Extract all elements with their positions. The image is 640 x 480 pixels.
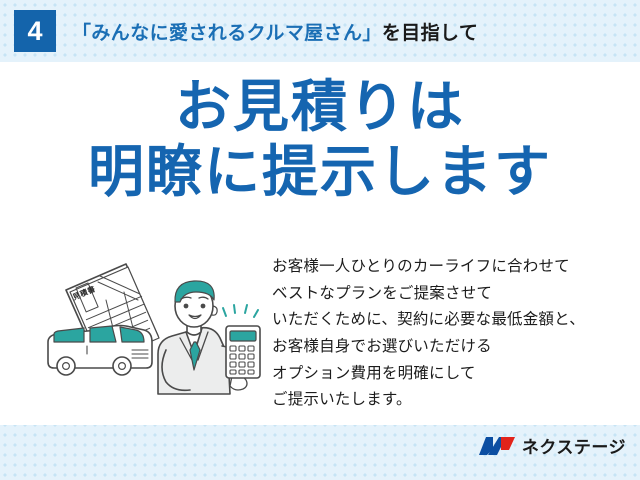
headline-line-2: 明瞭に提示します xyxy=(0,143,640,202)
header-title-quoted: 「みんなに愛されるクルマ屋さん」 xyxy=(72,23,382,44)
nexstage-logo: ネクステージ xyxy=(479,433,626,458)
nexstage-logo-text: ネクステージ xyxy=(522,433,626,458)
nexstage-n-mark xyxy=(479,435,515,457)
body-copy-line: ご提示いたします。 xyxy=(272,387,632,414)
content-panel: お見積りは 明瞭に提示します お客様一人ひとりのカーライフに合わせて ベストなプ… xyxy=(0,62,640,425)
body-copy-line: ベストなプランをご提案させて xyxy=(272,281,632,308)
body-copy-line: オプション費用を明確にして xyxy=(272,361,632,388)
body-copy: お客様一人ひとりのカーライフに合わせて ベストなプランをご提案させて いただくた… xyxy=(272,254,632,414)
section-number-badge: 4 xyxy=(14,10,56,52)
body-copy-line: お客様自身でお選びいただける xyxy=(272,334,632,361)
calculator-icon xyxy=(226,326,260,378)
body-copy-line: お客様一人ひとりのカーライフに合わせて xyxy=(272,254,632,281)
footer-bar: ネクステージ xyxy=(0,425,640,480)
promo-slide: 4 「みんなに愛されるクルマ屋さん」を目指して お見積りは 明瞭に提示します お… xyxy=(0,0,640,480)
header-title-tail: を目指して xyxy=(382,23,478,44)
salesman-illustration: 見積書 xyxy=(40,250,276,415)
sparkle-icon xyxy=(223,305,258,317)
header-bar: 4 「みんなに愛されるクルマ屋さん」を目指して xyxy=(0,0,640,62)
page-title: お見積りは 明瞭に提示します xyxy=(0,78,640,203)
van-icon xyxy=(48,326,152,376)
header-title: 「みんなに愛されるクルマ屋さん」を目指して xyxy=(72,18,478,45)
body-copy-line: いただくために、契約に必要な最低金額と、 xyxy=(272,307,632,334)
headline-line-1: お見積りは xyxy=(0,78,640,137)
